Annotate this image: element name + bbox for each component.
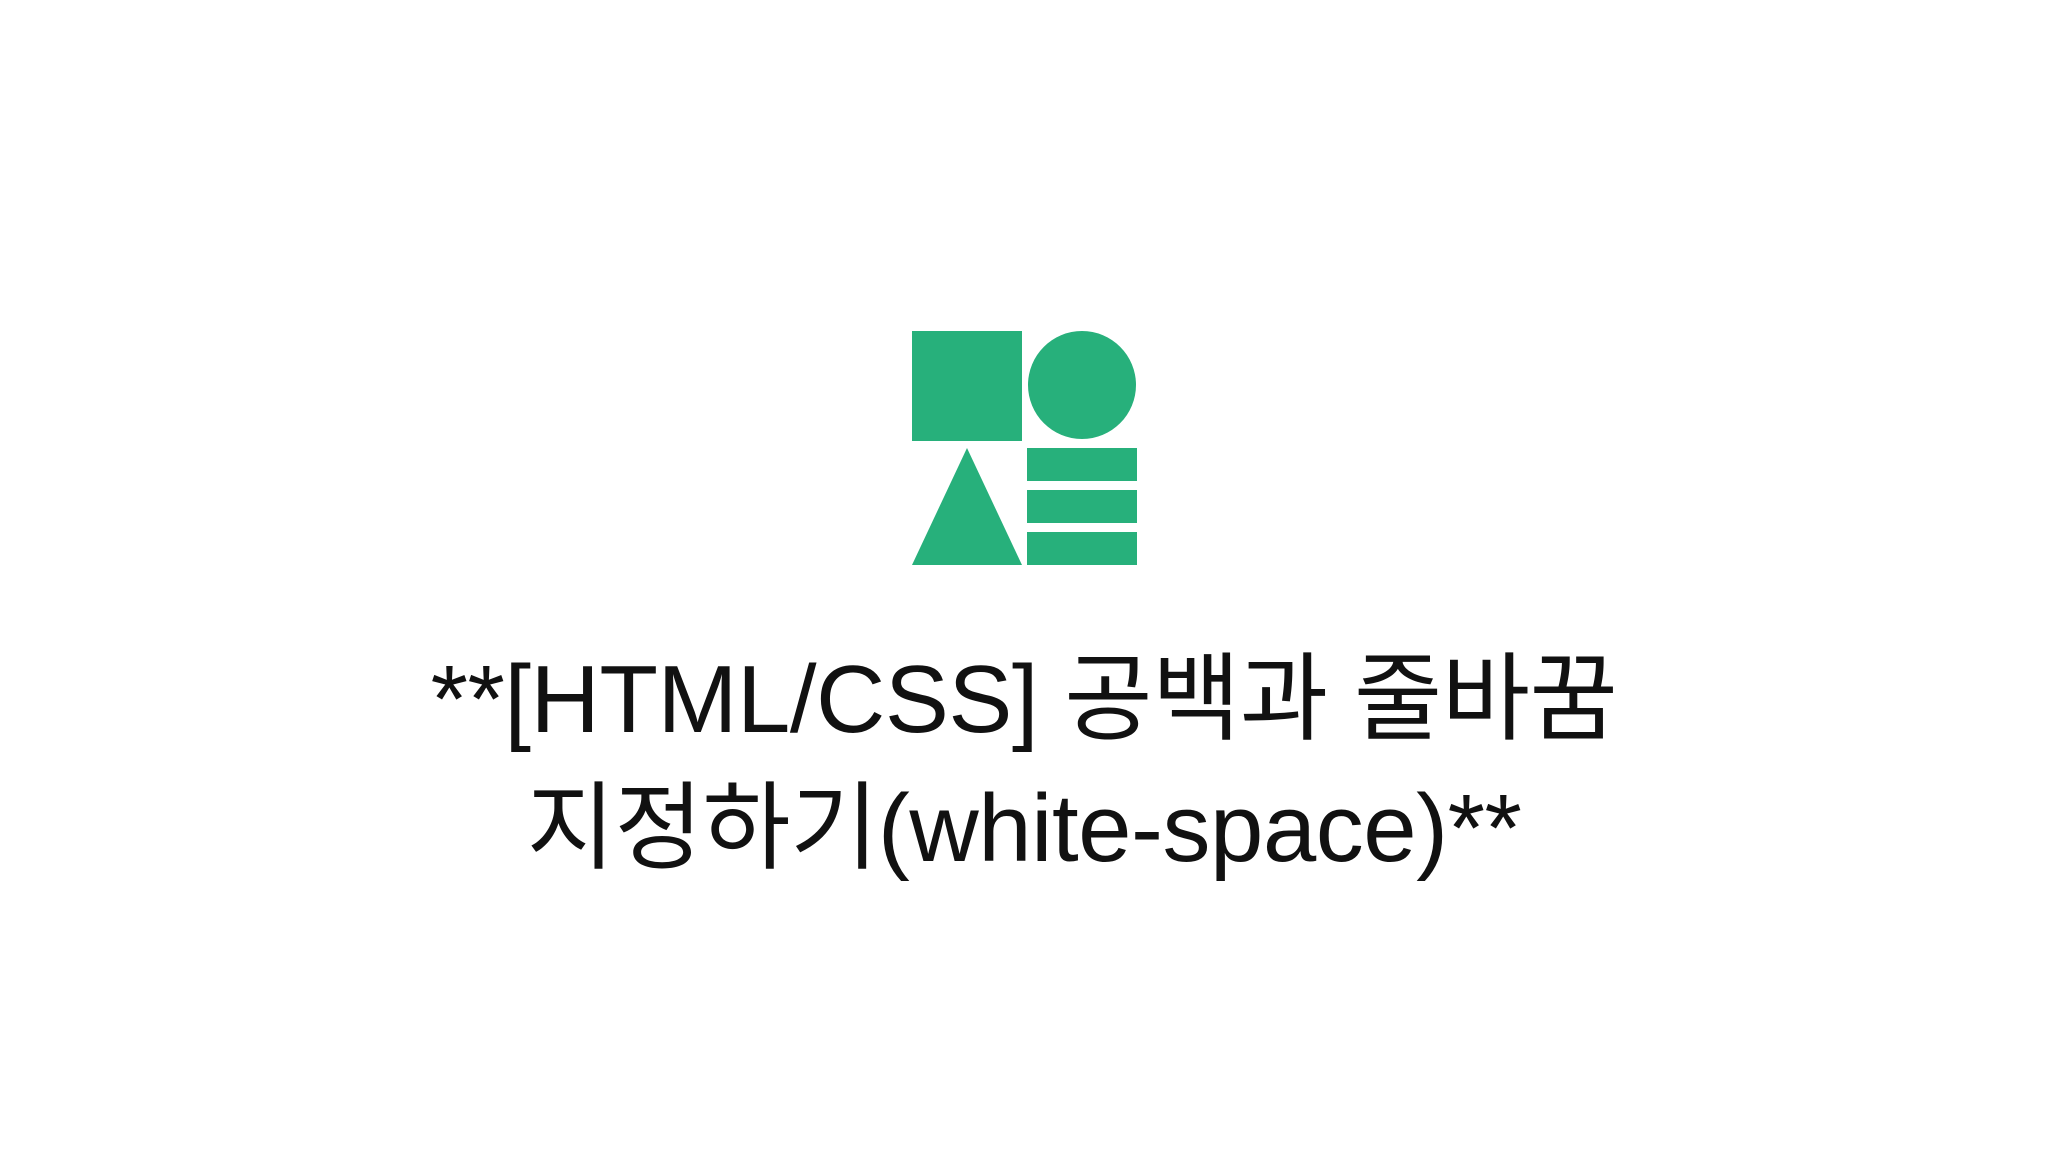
page-title: **[HTML/CSS] 공백과 줄바꿈 지정하기(white-space)** [0, 636, 2048, 893]
bar-2-shape [1027, 490, 1137, 523]
bar-3-shape [1027, 532, 1137, 565]
bar-1-shape [1027, 448, 1137, 481]
tistory-geometric-logo [912, 331, 1138, 566]
circle-shape [1028, 331, 1136, 439]
page-title-line-2: 지정하기(white-space)** [120, 765, 1928, 894]
thumbnail-card: **[HTML/CSS] 공백과 줄바꿈 지정하기(white-space)** [0, 0, 2048, 1170]
triangle-shape [912, 448, 1022, 565]
page-title-line-1: **[HTML/CSS] 공백과 줄바꿈 [120, 636, 1928, 765]
logo-svg [912, 331, 1138, 566]
square-shape [912, 331, 1022, 441]
